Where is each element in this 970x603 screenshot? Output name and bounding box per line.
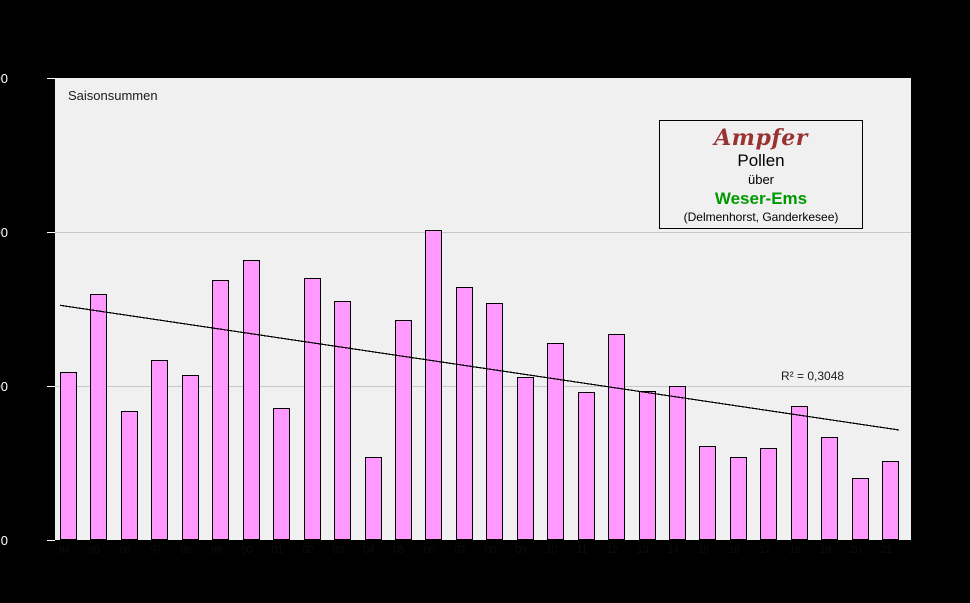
legend-subtitle-pollen: Pollen [664, 150, 858, 171]
y-axis-tick-1000 [47, 232, 55, 233]
x-axis-label-16: 16 [721, 543, 747, 557]
x-axis-label-15: 15 [690, 543, 716, 557]
bar-94 [60, 372, 77, 540]
x-axis-label-19: 19 [812, 543, 838, 557]
bar-02 [304, 278, 321, 540]
legend-region-weser-ems: Weser-Ems [664, 188, 858, 209]
x-axis-label-11: 11 [569, 543, 595, 557]
x-axis-label-14: 14 [660, 543, 686, 557]
y-axis-label-500: 500 [0, 380, 8, 393]
legend-preposition: über [664, 171, 858, 188]
plot-area: Saisonsummen R² = 0,3048 Ampfer Pollen ü… [55, 78, 911, 540]
x-axis-label-94: 94 [51, 543, 77, 557]
x-axis-label-98: 98 [173, 543, 199, 557]
bar-09 [517, 377, 534, 540]
bar-97 [151, 360, 168, 540]
x-axis-label-95: 95 [81, 543, 107, 557]
bar-21 [882, 461, 899, 540]
x-axis-label-18: 18 [782, 543, 808, 557]
bar-10 [547, 343, 564, 540]
x-axis-label-08: 08 [477, 543, 503, 557]
gridline-1000 [55, 232, 911, 233]
bar-00 [243, 260, 260, 540]
x-axis-label-10: 10 [538, 543, 564, 557]
bar-11 [578, 392, 595, 540]
x-axis-label-13: 13 [630, 543, 656, 557]
bar-06 [425, 230, 442, 540]
saisonsummen-label: Saisonsummen [68, 88, 158, 103]
bar-12 [608, 334, 625, 540]
x-axis-label-01: 01 [264, 543, 290, 557]
bar-17 [760, 448, 777, 540]
bar-99 [212, 280, 229, 540]
y-axis-tick-500 [47, 386, 55, 387]
x-axis-label-09: 09 [508, 543, 534, 557]
x-axis-label-07: 07 [447, 543, 473, 557]
bar-95 [90, 294, 107, 540]
y-axis-tick-0 [47, 540, 55, 541]
bar-20 [852, 478, 869, 540]
r-squared-annotation: R² = 0,3048 [781, 369, 844, 383]
x-axis-label-06: 06 [416, 543, 442, 557]
x-axis-label-12: 12 [599, 543, 625, 557]
x-axis-label-21: 21 [873, 543, 899, 557]
bar-18 [791, 406, 808, 540]
bar-04 [365, 457, 382, 540]
bar-07 [456, 287, 473, 540]
x-axis-label-03: 03 [325, 543, 351, 557]
bar-03 [334, 301, 351, 540]
bar-19 [821, 437, 838, 540]
x-axis-label-99: 99 [203, 543, 229, 557]
y-axis-label-1500: 1.500 [0, 72, 8, 85]
bar-05 [395, 320, 412, 540]
x-axis-label-00: 00 [234, 543, 260, 557]
x-axis-label-04: 04 [356, 543, 382, 557]
x-axis-label-96: 96 [112, 543, 138, 557]
legend-box: Ampfer Pollen über Weser-Ems (Delmenhors… [659, 120, 863, 229]
bar-96 [121, 411, 138, 540]
bar-01 [273, 408, 290, 540]
x-axis-label-17: 17 [751, 543, 777, 557]
legend-title-ampfer: Ampfer [664, 126, 858, 150]
x-axis-label-05: 05 [386, 543, 412, 557]
y-axis-tick-1500 [47, 78, 55, 79]
x-axis-labels: 9495969798990001020304050607080910111213… [55, 543, 911, 565]
legend-locations: (Delmenhorst, Ganderkesee) [664, 209, 858, 225]
x-axis-label-02: 02 [295, 543, 321, 557]
bar-13 [639, 391, 656, 540]
bar-14 [669, 386, 686, 540]
y-axis-label-0: 0 [1, 534, 8, 547]
bar-16 [730, 457, 747, 540]
bar-08 [486, 303, 503, 540]
bar-15 [699, 446, 716, 540]
y-axis-label-1000: 1.000 [0, 226, 8, 239]
x-axis-label-97: 97 [142, 543, 168, 557]
x-axis-label-20: 20 [843, 543, 869, 557]
bar-98 [182, 375, 199, 540]
chart-root: 1.500 1.000 500 0 Saisonsummen R² = 0,30… [0, 0, 970, 603]
